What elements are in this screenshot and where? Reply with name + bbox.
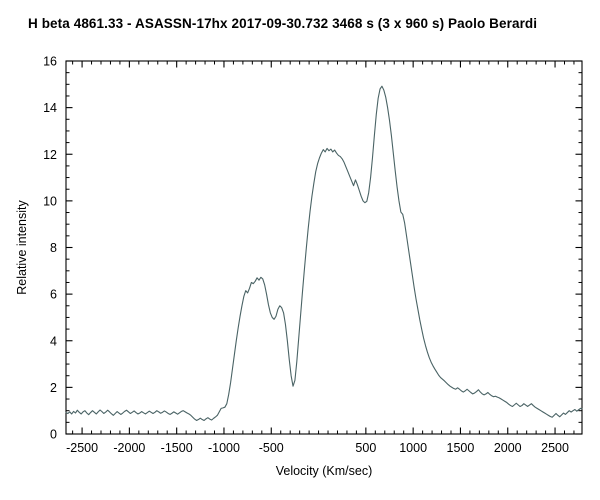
x-tick-label: -2000 — [113, 441, 145, 455]
y-tick-label: 10 — [43, 194, 57, 208]
x-axis-minor-ticks — [73, 61, 574, 434]
x-tick-label: -2500 — [66, 441, 98, 455]
x-tick-label: 2000 — [494, 441, 522, 455]
x-tick-label: -1000 — [208, 441, 240, 455]
x-axis-major-ticks: -2500-2000-1500-1000-5005001000150020002… — [66, 61, 569, 455]
y-tick-label: 16 — [43, 55, 57, 69]
y-tick-label: 14 — [43, 101, 57, 115]
spectrum-figure: H beta 4861.33 - ASASSN-17hx 2017-09-30.… — [0, 0, 600, 500]
y-tick-label: 0 — [50, 428, 57, 442]
x-tick-label: 500 — [355, 441, 376, 455]
y-tick-label: 2 — [50, 381, 57, 395]
y-tick-label: 8 — [50, 241, 57, 255]
x-tick-label: 1000 — [399, 441, 427, 455]
x-tick-label: 2500 — [541, 441, 569, 455]
data-line-series-0 — [66, 86, 582, 420]
y-axis-label: Relative intensity — [15, 200, 29, 295]
x-tick-label: -500 — [259, 441, 284, 455]
y-tick-label: 4 — [50, 334, 57, 348]
plot-frame — [66, 61, 582, 434]
y-axis-minor-ticks — [66, 73, 582, 423]
x-axis-label: Velocity (Km/sec) — [276, 464, 373, 478]
spectrum-chart: -2500-2000-1500-1000-5005001000150020002… — [0, 0, 600, 500]
x-tick-label: -1500 — [161, 441, 193, 455]
y-tick-label: 12 — [43, 148, 57, 162]
y-tick-label: 6 — [50, 288, 57, 302]
y-axis-major-ticks: 0246810121416 — [43, 55, 582, 442]
x-tick-label: 1500 — [447, 441, 475, 455]
